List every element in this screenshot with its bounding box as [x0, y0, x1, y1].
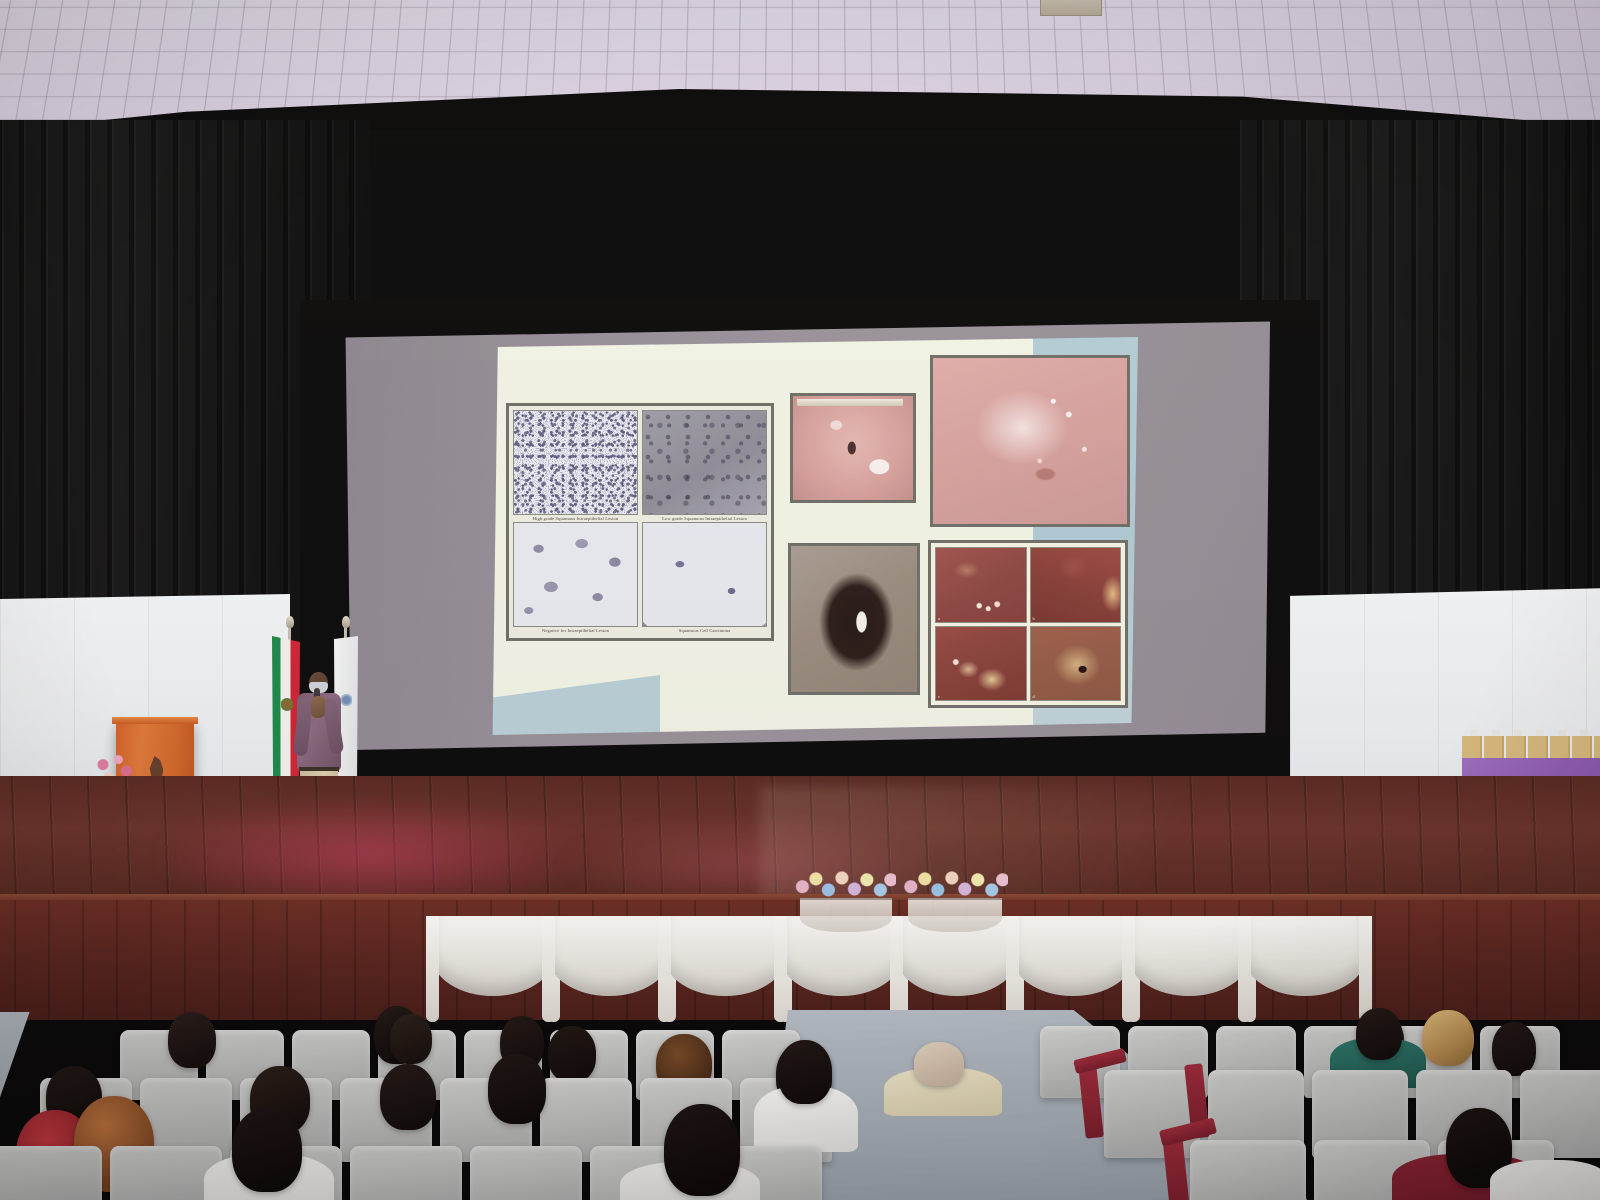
audience-person-head — [1422, 1010, 1474, 1066]
colposcopy-label: b — [1033, 616, 1035, 621]
cytology-image-nilm — [513, 522, 638, 627]
audience-person-head — [1492, 1022, 1536, 1076]
stage-flower-basket — [908, 898, 1002, 932]
audience-person-body — [1490, 1160, 1600, 1200]
cytology-image-hsil — [513, 410, 638, 515]
endoscopy-image-cervix-os — [788, 543, 920, 695]
colposcopy-label: d — [1033, 694, 1035, 699]
audience-person-head — [380, 1064, 436, 1130]
cytology-caption: Low grade Squamous Intraepithelial Lesio… — [642, 515, 767, 522]
colposcopy-label: c — [938, 694, 940, 699]
audience-person-head — [232, 1108, 302, 1192]
audience-person-head — [914, 1042, 964, 1086]
audience-seat — [0, 1146, 102, 1200]
flag-finial-icon — [342, 616, 350, 628]
cytology-caption: Squamous Cell Carcinoma — [642, 627, 767, 634]
cytology-image-scc — [642, 522, 767, 627]
endoscopy-image-cervix-lesion — [930, 355, 1130, 527]
audience-person-head — [778, 1040, 832, 1104]
cytology-cell: Low grade Squamous Intraepithelial Lesio… — [642, 410, 767, 522]
fabric-swag — [664, 916, 786, 996]
fabric-swag — [1012, 916, 1134, 996]
cytology-panel: High grade Squamous Intraepithelial Lesi… — [506, 403, 774, 641]
cytology-caption: High grade Squamous Intraepithelial Lesi… — [513, 515, 638, 522]
colposcopy-label: a — [938, 616, 940, 621]
cytology-image-lsil — [642, 410, 767, 515]
audience-seat — [470, 1146, 582, 1200]
colposcopy-cell-c: c — [935, 626, 1027, 702]
colposcopy-cell-a: a — [935, 547, 1027, 623]
auditorium-scene: High grade Squamous Intraepithelial Lesi… — [0, 0, 1600, 1200]
presentation-slide: High grade Squamous Intraepithelial Lesi… — [490, 335, 1138, 735]
cytology-cell: High grade Squamous Intraepithelial Lesi… — [513, 410, 638, 522]
colposcopy-cell-b: b — [1030, 547, 1122, 623]
audience-person-head — [664, 1104, 740, 1196]
fabric-swag — [1128, 916, 1250, 996]
podium-top — [112, 717, 198, 724]
audience-person-head — [168, 1012, 216, 1068]
slide-accent-bottom-left — [490, 675, 660, 735]
cytology-row-bottom: Negative for Intraepithelial Lesion Squa… — [513, 522, 767, 634]
audience-person-head — [488, 1054, 546, 1124]
cytology-row-top: High grade Squamous Intraepithelial Lesi… — [513, 410, 767, 522]
audience-person-head — [1356, 1008, 1402, 1060]
cytology-cell: Squamous Cell Carcinoma — [642, 522, 767, 634]
audience-seat — [350, 1146, 462, 1200]
endoscopy-image-cervix-normal — [790, 393, 916, 503]
fabric-swag — [432, 916, 554, 996]
colposcopy-quad-grid: a b c d — [928, 540, 1128, 708]
flag-finial-icon — [286, 616, 294, 628]
colposcopy-cell-d: d — [1030, 626, 1122, 702]
ceiling-vent — [1040, 0, 1102, 16]
presenter-hands — [311, 696, 325, 718]
cytology-caption: Negative for Intraepithelial Lesion — [513, 627, 638, 634]
cytology-cell: Negative for Intraepithelial Lesion — [513, 522, 638, 634]
fabric-swag — [548, 916, 670, 996]
audience-seat — [1190, 1140, 1306, 1200]
audience-person-head — [548, 1026, 596, 1082]
stage-flower-basket — [800, 898, 892, 932]
fabric-swag — [1244, 916, 1366, 996]
audience-person-head — [390, 1014, 432, 1064]
